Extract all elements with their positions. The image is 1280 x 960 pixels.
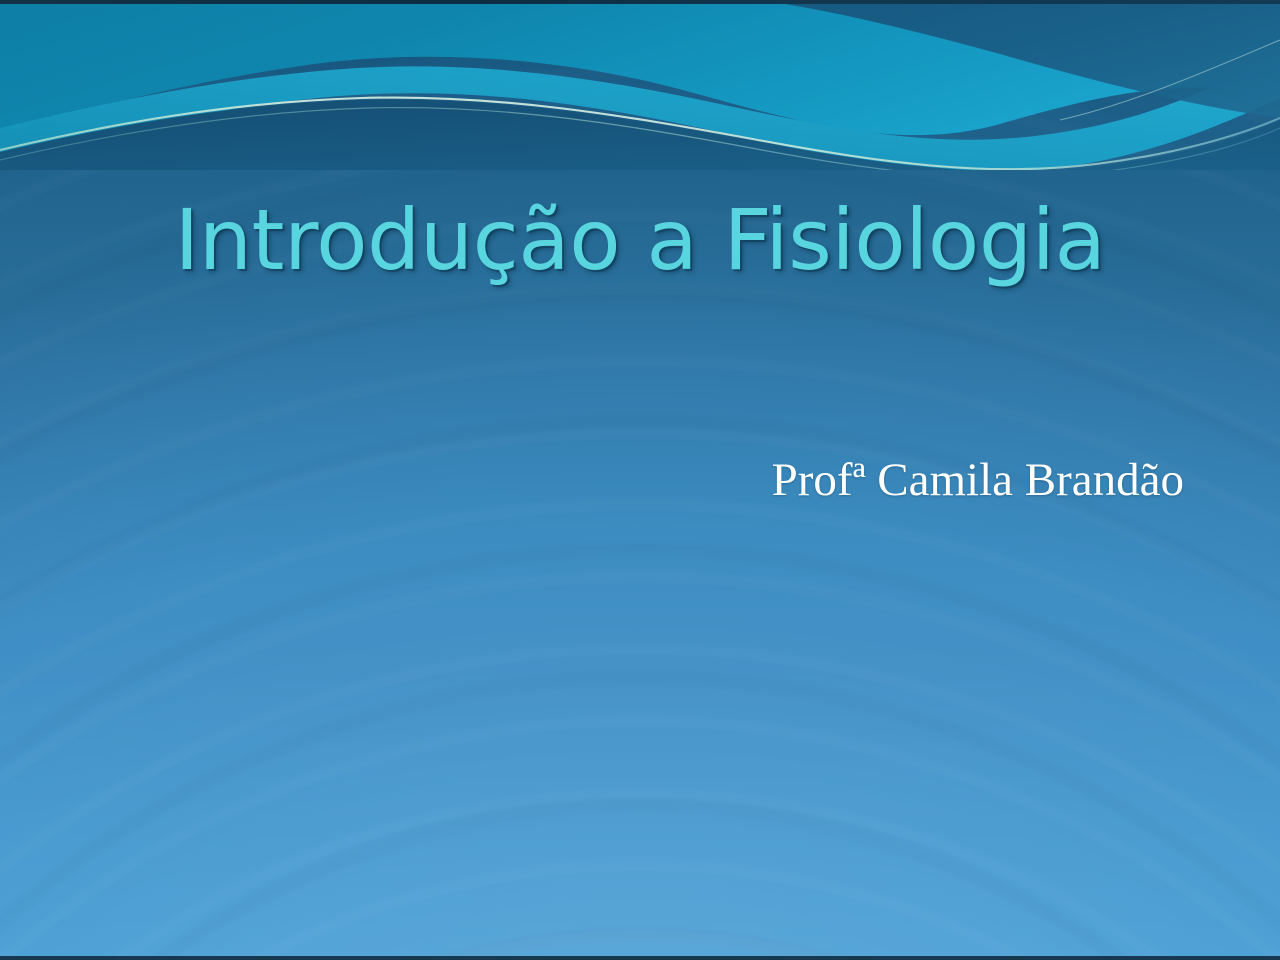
slide-title: Introdução a Fisiologia xyxy=(64,196,1216,285)
slide-subtitle: Profª Camila Brandão xyxy=(128,452,1184,508)
title-placeholder: Introdução a Fisiologia xyxy=(64,196,1216,285)
presentation-slide: Introdução a Fisiologia Profª Camila Bra… xyxy=(0,0,1280,960)
subtitle-placeholder: Profª Camila Brandão xyxy=(128,452,1198,508)
